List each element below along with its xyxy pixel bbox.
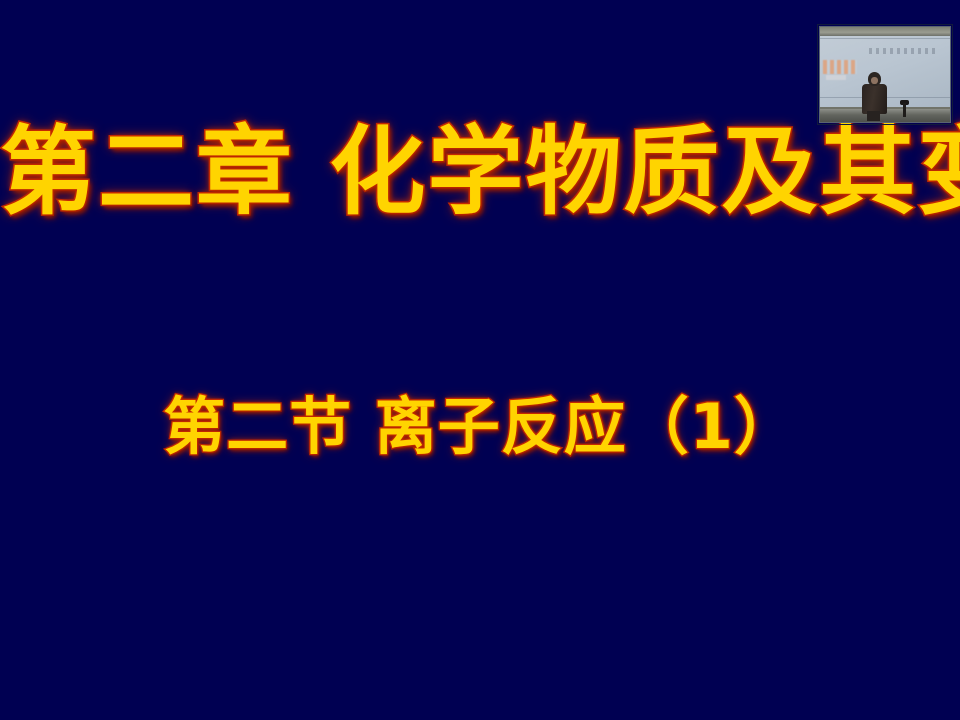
page-title: 第二章 化学物质及其变化 [0, 124, 960, 220]
microphone-stand [903, 103, 906, 117]
lecture-slide: 第二章 化学物质及其变化 第二节 离子反应（1） [0, 0, 960, 720]
classroom-ceiling [820, 27, 950, 36]
teacher-body [862, 84, 887, 114]
projected-text-watermark-sub [826, 75, 846, 80]
screen-seam-line [820, 38, 950, 39]
picture-in-picture-video[interactable] [819, 26, 951, 123]
section-subtitle: 第二节 离子反应（1） [0, 396, 960, 458]
teacher-face [871, 77, 878, 84]
whiteboard-text [869, 48, 937, 54]
teacher-legs [867, 111, 880, 121]
projected-text-watermark [823, 60, 857, 74]
